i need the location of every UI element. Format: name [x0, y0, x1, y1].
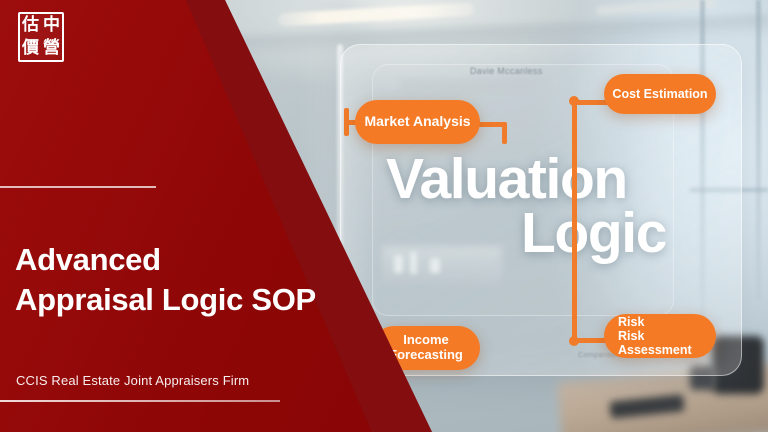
page-title-line-2: Appraisal Logic SOP	[15, 280, 345, 320]
node-label-wrap: Income Forecasting	[389, 333, 463, 362]
node-label: Cost Estimation	[612, 87, 707, 101]
divider-above-title	[0, 186, 156, 188]
divider-below-subtitle	[0, 400, 280, 402]
connector-market-analysis-branch-drop	[502, 122, 507, 144]
diagram-node-market-analysis[interactable]: Market Analysis	[355, 100, 480, 144]
connector-vertical-right	[572, 104, 577, 342]
connector-cap-market-analysis	[344, 108, 349, 136]
page-title: Advanced Appraisal Logic SOP	[15, 240, 345, 321]
panel-blurred-text-bar	[400, 80, 530, 93]
node-label: Market Analysis	[364, 114, 470, 130]
company-seal-logo: 估 中 價 營	[18, 12, 64, 62]
seal-char-4: 營	[41, 37, 62, 60]
seal-char-3: 價	[20, 37, 41, 60]
page-title-line-1: Advanced	[15, 240, 345, 280]
node-label-line-2: Forecasting	[389, 348, 463, 363]
window-mullion	[756, 0, 761, 300]
node-label-wrap: Risk Risk Assessment	[618, 315, 716, 357]
presentation-slide: Davie Mccanless Comparison Valuation Log…	[0, 0, 768, 432]
diagram-node-cost-estimation[interactable]: Cost Estimation	[604, 74, 716, 114]
page-subtitle: CCIS Real Estate Joint Appraisers Firm	[16, 373, 249, 388]
node-label-line-2: Risk Assessment	[618, 329, 716, 357]
seal-char-2: 中	[41, 14, 62, 37]
connector-junction-dot	[569, 336, 579, 346]
node-label: Income	[389, 333, 463, 348]
panel-note-label: Davie Mccanless	[470, 66, 543, 76]
connector-junction-dot	[569, 96, 579, 106]
seal-char-1: 估	[20, 14, 41, 37]
diagram-node-risk-assessment[interactable]: Risk Risk Assessment	[604, 314, 716, 358]
node-label: Risk	[618, 315, 716, 329]
